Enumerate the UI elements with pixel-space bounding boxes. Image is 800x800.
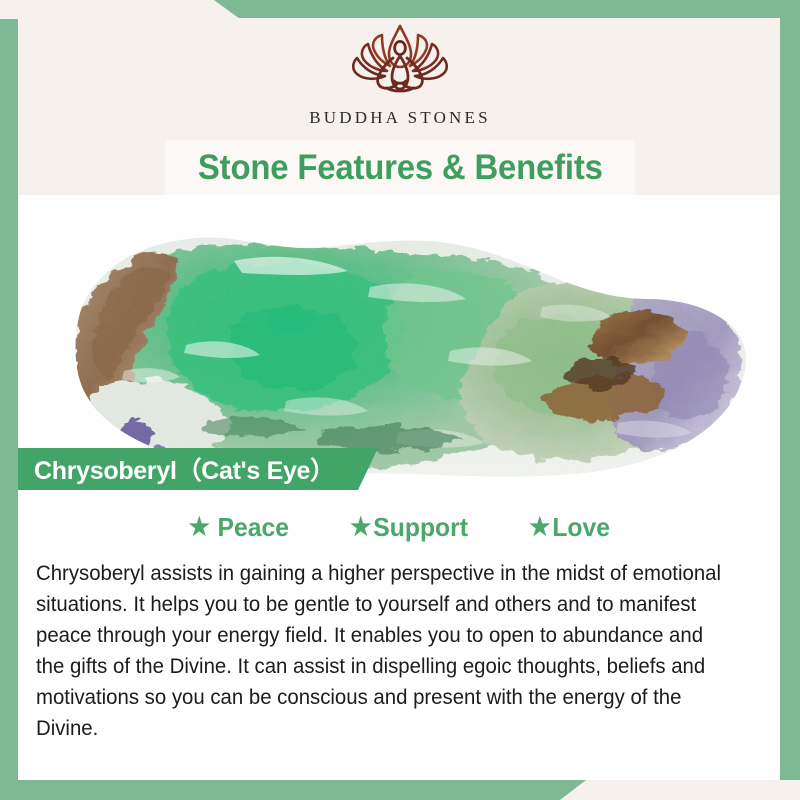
benefit-item-support: ★ Support — [350, 512, 468, 543]
content-card: ★ Peace ★ Support ★ Love Chrysoberyl ass… — [18, 500, 780, 780]
benefit-label-love: Love — [553, 512, 611, 543]
star-icon: ★ — [188, 515, 209, 540]
brand-logo-block: BUDDHA STONES — [0, 18, 800, 128]
title-banner: Stone Features & Benefits — [165, 140, 635, 195]
benefit-item-peace: ★ Peace — [188, 512, 288, 543]
star-icon: ★ — [350, 515, 371, 540]
benefit-label-support: Support — [374, 512, 469, 543]
stone-name-label: Chrysoberyl（Cat's Eye） — [18, 451, 335, 487]
star-icon: ★ — [529, 515, 550, 540]
page-title: Stone Features & Benefits — [198, 148, 603, 188]
brand-name: BUDDHA STONES — [309, 108, 491, 128]
stone-name-banner: Chrysoberyl（Cat's Eye） — [18, 448, 378, 490]
benefit-label-peace: Peace — [217, 512, 288, 543]
benefit-item-love: ★ Love — [529, 512, 610, 543]
stone-description: Chrysoberyl assists in gaining a higher … — [36, 558, 736, 744]
benefits-row: ★ Peace ★ Support ★ Love — [18, 512, 780, 543]
frame-notch-top-left — [0, 0, 240, 19]
lotus-meditation-icon — [344, 18, 456, 104]
frame-notch-bottom-right — [560, 780, 800, 800]
